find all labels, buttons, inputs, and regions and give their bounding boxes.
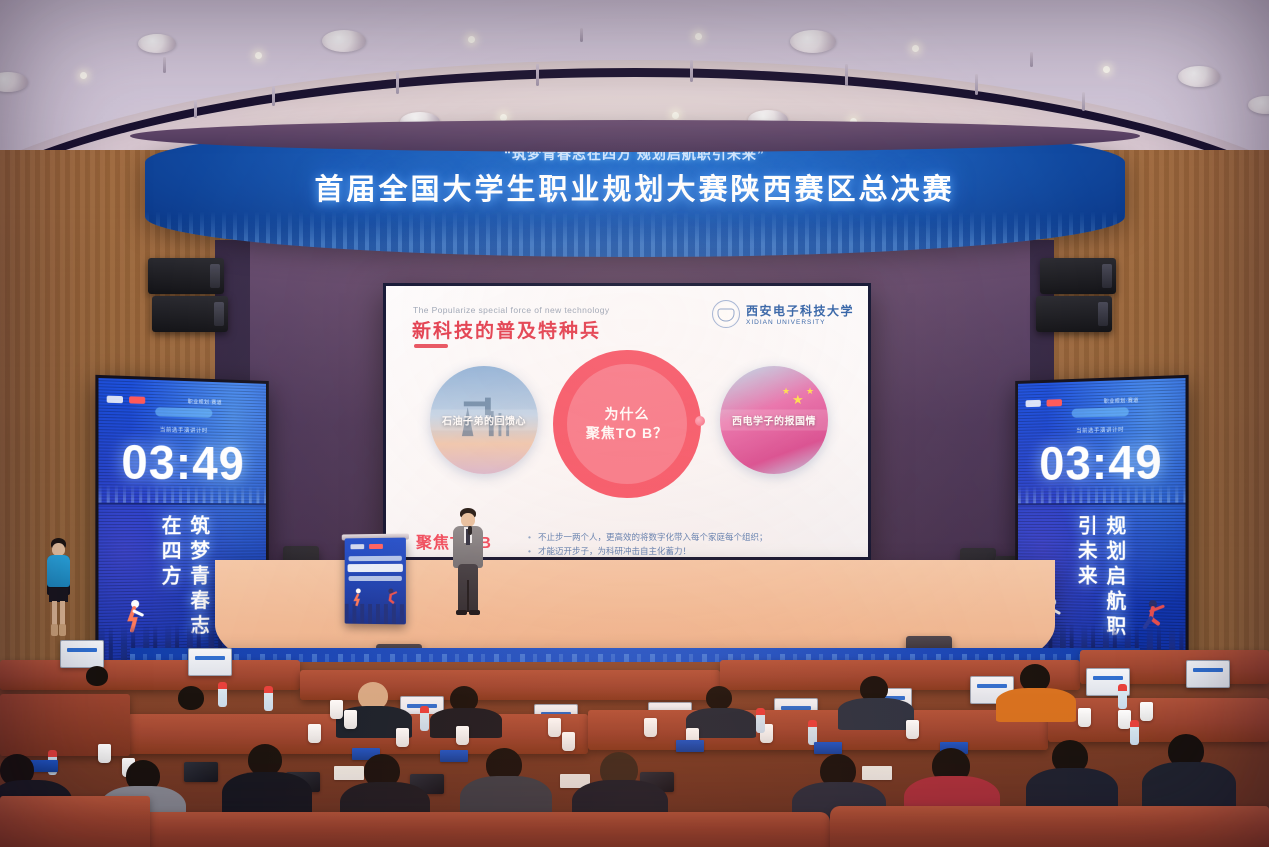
flag-star-icon: ★ bbox=[792, 392, 804, 408]
slide-bullet: •不止步一两个人，更高效的将数字化带入每个家庭每个组织； bbox=[528, 530, 768, 544]
audience-area bbox=[0, 662, 1269, 847]
ceiling-spotlight bbox=[1248, 96, 1269, 114]
slide-english-heading: The Popularize special force of new tech… bbox=[413, 305, 610, 315]
paper-cup bbox=[1140, 702, 1153, 721]
presenter-microphone bbox=[468, 526, 472, 535]
bullet-marker-icon: • bbox=[528, 530, 531, 544]
staff-skirt bbox=[49, 588, 68, 602]
paper-cup bbox=[330, 700, 343, 719]
presenter-leg-split bbox=[467, 580, 469, 612]
lectern-title-line bbox=[349, 556, 402, 561]
audience-laptop[interactable] bbox=[1186, 660, 1230, 688]
university-name-cn: 西安电子科技大学 bbox=[746, 302, 854, 319]
event-banner-title: 首届全国大学生职业规划大赛陕西赛区总决赛 bbox=[145, 166, 1125, 208]
staff-boot bbox=[59, 624, 66, 636]
tablet-device[interactable] bbox=[184, 762, 218, 782]
diagram-connector-right bbox=[695, 416, 705, 426]
printed-handout bbox=[334, 766, 364, 780]
desk-nameplate bbox=[440, 750, 468, 762]
hanging-speaker-right bbox=[1036, 296, 1112, 332]
front-row-desk bbox=[830, 806, 1269, 847]
water-bottle bbox=[1130, 720, 1139, 745]
desk-nameplate bbox=[814, 742, 842, 754]
diagram-circle-left: 石油子弟的回馈心 bbox=[430, 366, 538, 474]
sponsor-logo-icon: . bbox=[369, 544, 383, 549]
water-bottle bbox=[264, 686, 273, 711]
sponsor-logo-icon: . bbox=[350, 544, 364, 549]
desk-nameplate bbox=[30, 760, 58, 772]
slide-bullet: •才能迈开步子，为科研冲击自主化蓄力！ bbox=[528, 544, 768, 557]
flag-star-icon: ★ bbox=[782, 386, 790, 397]
paper-cup bbox=[548, 718, 561, 737]
water-bottle bbox=[756, 708, 765, 733]
ceiling-spotlight bbox=[1178, 66, 1220, 87]
audience-desk bbox=[0, 660, 300, 690]
hanging-speaker-right bbox=[1040, 258, 1116, 294]
diagram-center-line2: 聚焦TO B？ bbox=[586, 424, 668, 443]
hanging-speaker-left bbox=[152, 296, 228, 332]
ceiling-spotlight bbox=[790, 30, 836, 53]
led-skyline-left bbox=[98, 484, 265, 503]
water-bottle bbox=[420, 706, 429, 731]
slide-bullet-list: •不止步一两个人，更高效的将数字化带入每个家庭每个组织； •才能迈开步子，为科研… bbox=[528, 530, 768, 557]
front-row-desk bbox=[130, 812, 830, 847]
lectern-title-band bbox=[348, 564, 403, 572]
banner-bottom-mask bbox=[130, 120, 1140, 152]
diagram-left-label: 石油子弟的回馈心 bbox=[430, 410, 538, 431]
flag-star-icon: ★ bbox=[806, 386, 814, 397]
ceiling-pendant-light bbox=[1030, 52, 1033, 67]
slide-heading-underline bbox=[414, 344, 448, 348]
audience-attendee-head bbox=[706, 686, 732, 710]
diagram-right-label: 西电学子的报国情 bbox=[720, 410, 828, 431]
ceiling-downlight bbox=[695, 33, 702, 40]
presenter-shoe bbox=[469, 610, 480, 615]
slide-diagram: 石油子弟的回馈心 为什么 聚焦TO B？ ★ ★ ★ 西电学子的报国情 bbox=[386, 364, 868, 484]
presenter-head bbox=[461, 513, 475, 527]
hanging-speaker-left bbox=[148, 258, 224, 294]
ceiling-pendant-light bbox=[1082, 92, 1085, 111]
diagram-circle-right: ★ ★ ★ 西电学子的报国情 bbox=[720, 366, 828, 474]
presenter bbox=[448, 508, 488, 628]
bullet-marker-icon: • bbox=[528, 544, 531, 557]
ceiling-pendant-light bbox=[536, 64, 539, 86]
diagram-center-line1: 为什么 bbox=[605, 405, 650, 424]
ceiling-spotlight bbox=[322, 30, 366, 52]
jumper-figure-icon bbox=[384, 588, 400, 608]
ceiling-pendant-light bbox=[194, 100, 197, 118]
university-logo: 西安电子科技大学 XIDIAN UNIVERSITY bbox=[712, 300, 854, 328]
ceiling-pendant-light bbox=[396, 72, 399, 94]
ceiling-downlight bbox=[672, 112, 679, 119]
paper-cup bbox=[644, 718, 657, 737]
paper-cup bbox=[456, 726, 469, 745]
front-row-desk-left bbox=[0, 796, 150, 847]
ceiling-pendant-light bbox=[163, 57, 166, 73]
paper-cup bbox=[308, 724, 321, 743]
printed-handout bbox=[862, 766, 892, 780]
led-header-text-right: 职业规划·赛道 bbox=[1104, 396, 1139, 404]
ceiling-spotlight bbox=[0, 72, 28, 92]
slide-bullet-text: 不止步一两个人，更高效的将数字化带入每个家庭每个组织； bbox=[538, 530, 768, 544]
slide-bullet-text: 才能迈开步子，为科研冲击自主化蓄力！ bbox=[538, 544, 691, 557]
lectern: .. bbox=[345, 538, 406, 625]
paper-cup bbox=[396, 728, 409, 747]
staff-member bbox=[40, 538, 76, 648]
diagram-circle-center: 为什么 聚焦TO B？ bbox=[553, 350, 701, 498]
audience-attendee-head bbox=[86, 666, 108, 686]
ceiling-spotlight bbox=[138, 34, 176, 53]
ceiling-pendant-light bbox=[975, 74, 978, 95]
paper-cup bbox=[562, 732, 575, 751]
audience-attendee-head bbox=[178, 686, 204, 710]
paper-cup bbox=[1078, 708, 1091, 727]
ceiling-downlight bbox=[468, 36, 475, 43]
ceiling-downlight bbox=[255, 52, 262, 59]
water-bottle bbox=[218, 682, 227, 707]
led-header-pill-right bbox=[1072, 407, 1129, 418]
presenter-shoe bbox=[456, 610, 467, 615]
slide-chinese-heading: 新科技的普及特种兵 bbox=[412, 316, 601, 343]
runner-figure-icon bbox=[350, 588, 366, 608]
audience-attendee-shoulders bbox=[996, 688, 1076, 722]
ceiling-pendant-light bbox=[690, 60, 693, 82]
diagram-center-inner: 为什么 聚焦TO B？ bbox=[567, 364, 687, 484]
desk-nameplate bbox=[676, 740, 704, 752]
countdown-timer-left: 03:49 bbox=[98, 433, 265, 490]
sponsor-logo-icon bbox=[1026, 399, 1041, 406]
university-name-en: XIDIAN UNIVERSITY bbox=[746, 319, 854, 326]
paper-cup bbox=[906, 720, 919, 739]
staff-boot bbox=[51, 624, 58, 636]
auditorium-scene: “筑梦青春志在四方 规划启航职引未来” 首届全国大学生职业规划大赛陕西赛区总决赛… bbox=[0, 0, 1269, 847]
ceiling-pendant-light bbox=[580, 28, 583, 42]
ceiling-downlight bbox=[1103, 66, 1110, 73]
countdown-timer-right: 03:49 bbox=[1018, 433, 1185, 490]
ceiling-downlight bbox=[80, 72, 87, 79]
sponsor-logo-icon bbox=[129, 396, 145, 404]
lectern-sub-line bbox=[349, 576, 402, 581]
lectern-sponsor-logos: .. bbox=[350, 544, 382, 549]
sponsor-logo-icon bbox=[1047, 399, 1062, 406]
ceiling-pendant-light bbox=[272, 86, 275, 106]
audience-laptop[interactable] bbox=[188, 648, 232, 676]
ceiling-pendant-light bbox=[845, 64, 848, 86]
audience-laptop[interactable] bbox=[60, 640, 104, 668]
led-header-pill-left bbox=[155, 407, 212, 418]
paper-cup bbox=[344, 710, 357, 729]
led-skyline-right bbox=[1018, 484, 1185, 503]
lectern-banner-panel: .. bbox=[345, 538, 406, 625]
ceiling-downlight bbox=[912, 45, 919, 52]
paper-cup bbox=[98, 744, 111, 763]
staff-blue-vest bbox=[47, 555, 70, 587]
led-header-text-left: 职业规划·赛道 bbox=[188, 398, 222, 406]
sponsor-logo-icon bbox=[107, 395, 123, 403]
water-bottle bbox=[1118, 684, 1127, 709]
audience-attendee-shoulders bbox=[838, 698, 914, 730]
university-seal-icon bbox=[712, 300, 740, 328]
